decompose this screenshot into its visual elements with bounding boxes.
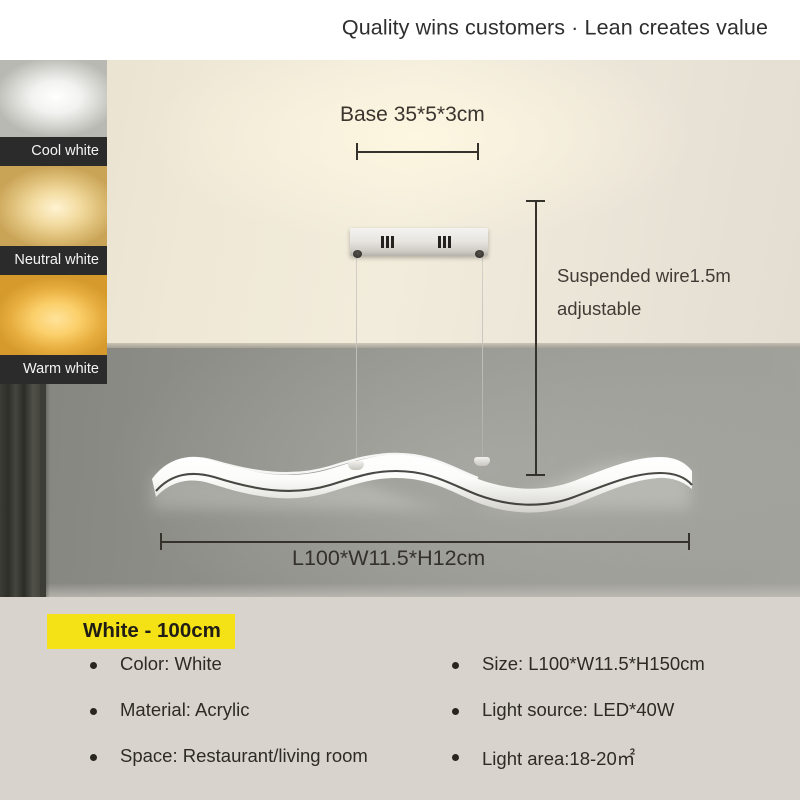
wire-mount-left — [348, 461, 364, 470]
suspension-dimension-cap-top — [526, 200, 545, 202]
bullet-icon — [90, 662, 97, 669]
swatch-label-cool-white: Cool white — [0, 137, 107, 166]
vent-slot-icon — [386, 236, 389, 248]
vent-slot-icon — [438, 236, 441, 248]
spec-text: Material: Acrylic — [120, 699, 250, 720]
ceiling-surface — [0, 57, 800, 348]
bullet-icon — [90, 754, 97, 761]
suspension-wire-left — [356, 253, 357, 469]
spec-column-right: Size: L100*W11.5*H150cm Light source: LE… — [452, 653, 705, 795]
canopy-screw-icon — [475, 250, 484, 258]
fixture-dimension-line — [160, 541, 690, 543]
spec-text: Light source: LED*40W — [482, 699, 674, 720]
spec-text: Light area:18-20㎡ — [482, 748, 635, 769]
color-temperature-swatches: Cool white Neutral white Warm white — [0, 57, 107, 384]
vent-slot-icon — [381, 236, 384, 248]
curtain-edge — [40, 357, 50, 597]
canopy-screw-icon — [353, 250, 362, 258]
swatch-label-warm-white: Warm white — [0, 355, 107, 384]
base-dimension-line — [356, 151, 478, 153]
spec-item-size: Size: L100*W11.5*H150cm — [452, 653, 705, 675]
page-title: Quality wins customers · Lean creates va… — [342, 16, 768, 41]
bullet-icon — [452, 708, 459, 715]
warm-white-glow-icon — [0, 275, 107, 355]
spec-column-left: Color: White Material: Acrylic Space: Re… — [90, 653, 368, 791]
spec-text: Space: Restaurant/living room — [120, 745, 368, 766]
bullet-icon — [90, 708, 97, 715]
vent-slot-icon — [391, 236, 394, 248]
spec-text: Size: L100*W11.5*H150cm — [482, 653, 705, 674]
product-photo — [0, 57, 800, 597]
bullet-icon — [452, 662, 459, 669]
fixture-dimension-cap-right — [688, 533, 690, 550]
suspension-wire-right — [482, 253, 483, 465]
bullet-icon — [452, 754, 459, 761]
spec-item-color: Color: White — [90, 653, 368, 675]
suspended-wire-label-line1: Suspended wire1.5m — [557, 265, 731, 287]
spec-item-light-source: Light source: LED*40W — [452, 699, 705, 721]
cool-white-glow-icon — [0, 57, 107, 137]
product-infographic: Quality wins customers · Lean creates va… — [0, 0, 800, 800]
base-dimension-cap-right — [477, 143, 479, 160]
wall-base-highlight — [0, 583, 800, 597]
fixture-dimension-cap-left — [160, 533, 162, 550]
specification-panel: White - 100cm Color: White Material: Acr… — [0, 597, 800, 800]
suspended-wire-label-line2: adjustable — [557, 300, 641, 319]
header-bar: Quality wins customers · Lean creates va… — [0, 0, 800, 60]
spec-text: Color: White — [120, 653, 222, 674]
suspension-dimension-cap-bottom — [526, 474, 545, 476]
swatch-warm-white — [0, 275, 107, 355]
wire-mount-right — [474, 457, 490, 466]
vent-slot-icon — [443, 236, 446, 248]
base-dimension-cap-left — [356, 143, 358, 160]
spec-item-space: Space: Restaurant/living room — [90, 745, 368, 767]
swatch-neutral-white — [0, 166, 107, 246]
neutral-white-glow-icon — [0, 166, 107, 246]
spec-item-light-area: Light area:18-20㎡ — [452, 745, 705, 771]
ceiling-canopy — [350, 228, 488, 256]
swatch-cool-white — [0, 57, 107, 137]
vent-slot-icon — [448, 236, 451, 248]
variant-badge: White - 100cm — [47, 614, 235, 649]
spec-item-material: Material: Acrylic — [90, 699, 368, 721]
suspension-dimension-line — [535, 201, 537, 475]
base-dimension-label: Base 35*5*3cm — [340, 103, 485, 127]
fixture-dimension-label: L100*W11.5*H12cm — [292, 546, 485, 571]
swatch-label-neutral-white: Neutral white — [0, 246, 107, 275]
